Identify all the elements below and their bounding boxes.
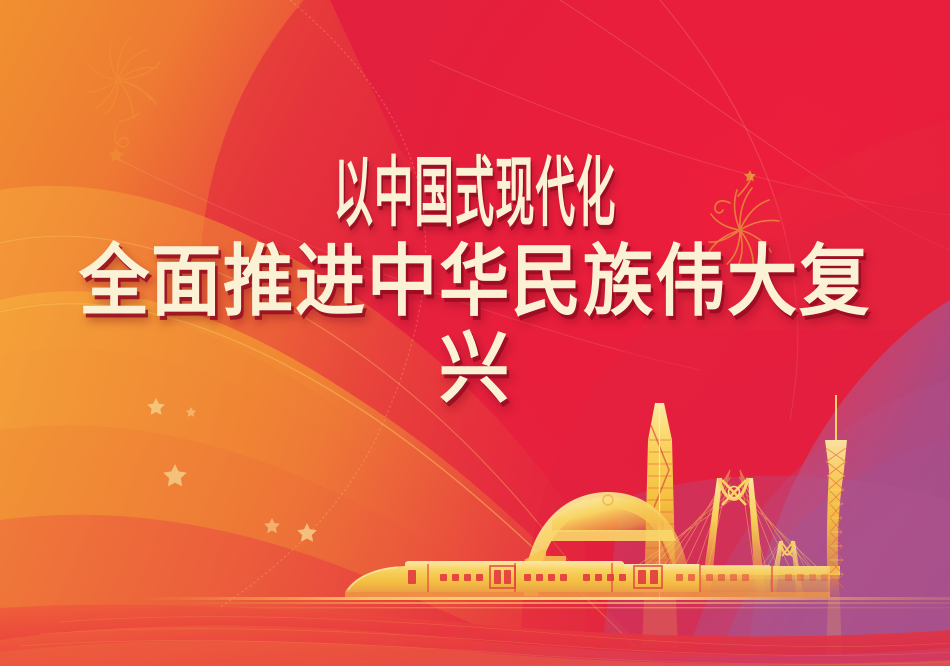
star-4 [264, 518, 280, 533]
star-5 [297, 523, 317, 542]
firework-right-icon [708, 188, 779, 270]
decoration-layer [0, 0, 950, 666]
firework-tail-icon [115, 113, 139, 147]
star-1 [147, 398, 165, 415]
star-3 [163, 464, 186, 486]
firework-icon [88, 38, 160, 116]
star-2 [186, 407, 196, 417]
poster-canvas: 以中国式现代化 全面推进中华民族伟大复兴 [0, 0, 950, 666]
star-cluster [147, 398, 317, 542]
firework-star-icon [108, 147, 124, 162]
